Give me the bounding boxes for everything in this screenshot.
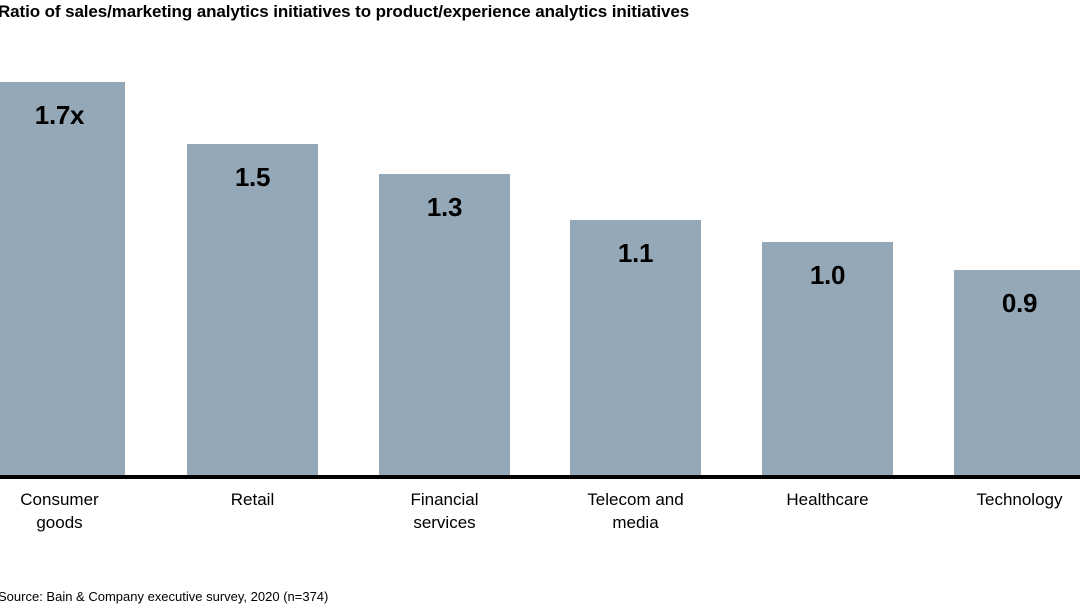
x-axis-line	[0, 475, 1080, 479]
bar-value-retail: 1.5	[187, 162, 318, 192]
category-label-retail: Retail	[187, 488, 318, 511]
bar-consumer-goods[interactable]	[0, 82, 125, 477]
bar-group-technology: 0.9	[954, 270, 1080, 477]
category-label-line1: Retail	[187, 488, 318, 511]
x-axis-category-labels: Consumer goods Retail Financial services…	[0, 488, 1080, 548]
chart-title: Ratio of sales/marketing analytics initi…	[0, 2, 1078, 22]
bar-value-consumer-goods: 1.7x	[0, 100, 125, 130]
bar-group-consumer-goods: 1.7x	[0, 82, 125, 477]
category-label-line1: Consumer	[0, 488, 125, 511]
category-label-line2: media	[565, 511, 706, 534]
category-label-telecom-and-media: Telecom and media	[565, 488, 706, 534]
bar-group-retail: 1.5	[187, 144, 318, 477]
bar-retail[interactable]	[187, 144, 318, 477]
bar-chart: Ratio of sales/marketing analytics initi…	[0, 0, 1080, 612]
plot-area: 1.7x 1.5 1.3 1.1 1.0 0.9	[0, 40, 1080, 477]
category-label-line1: Healthcare	[762, 488, 893, 511]
category-label-financial-services: Financial services	[379, 488, 510, 534]
bar-group-telecom-and-media: 1.1	[570, 220, 701, 477]
source-note: Source: Bain & Company executive survey,…	[0, 588, 328, 605]
category-label-healthcare: Healthcare	[762, 488, 893, 511]
category-label-consumer-goods: Consumer goods	[0, 488, 125, 534]
bar-group-healthcare: 1.0	[762, 242, 893, 477]
category-label-technology: Technology	[954, 488, 1080, 511]
bar-group-financial-services: 1.3	[379, 174, 510, 477]
category-label-line2: services	[379, 511, 510, 534]
bar-value-financial-services: 1.3	[379, 192, 510, 222]
bar-value-technology: 0.9	[954, 288, 1080, 318]
bar-value-telecom-and-media: 1.1	[570, 238, 701, 268]
bar-value-healthcare: 1.0	[762, 260, 893, 290]
category-label-line2: goods	[0, 511, 125, 534]
category-label-line1: Financial	[379, 488, 510, 511]
category-label-line1: Technology	[954, 488, 1080, 511]
category-label-line1: Telecom and	[565, 488, 706, 511]
